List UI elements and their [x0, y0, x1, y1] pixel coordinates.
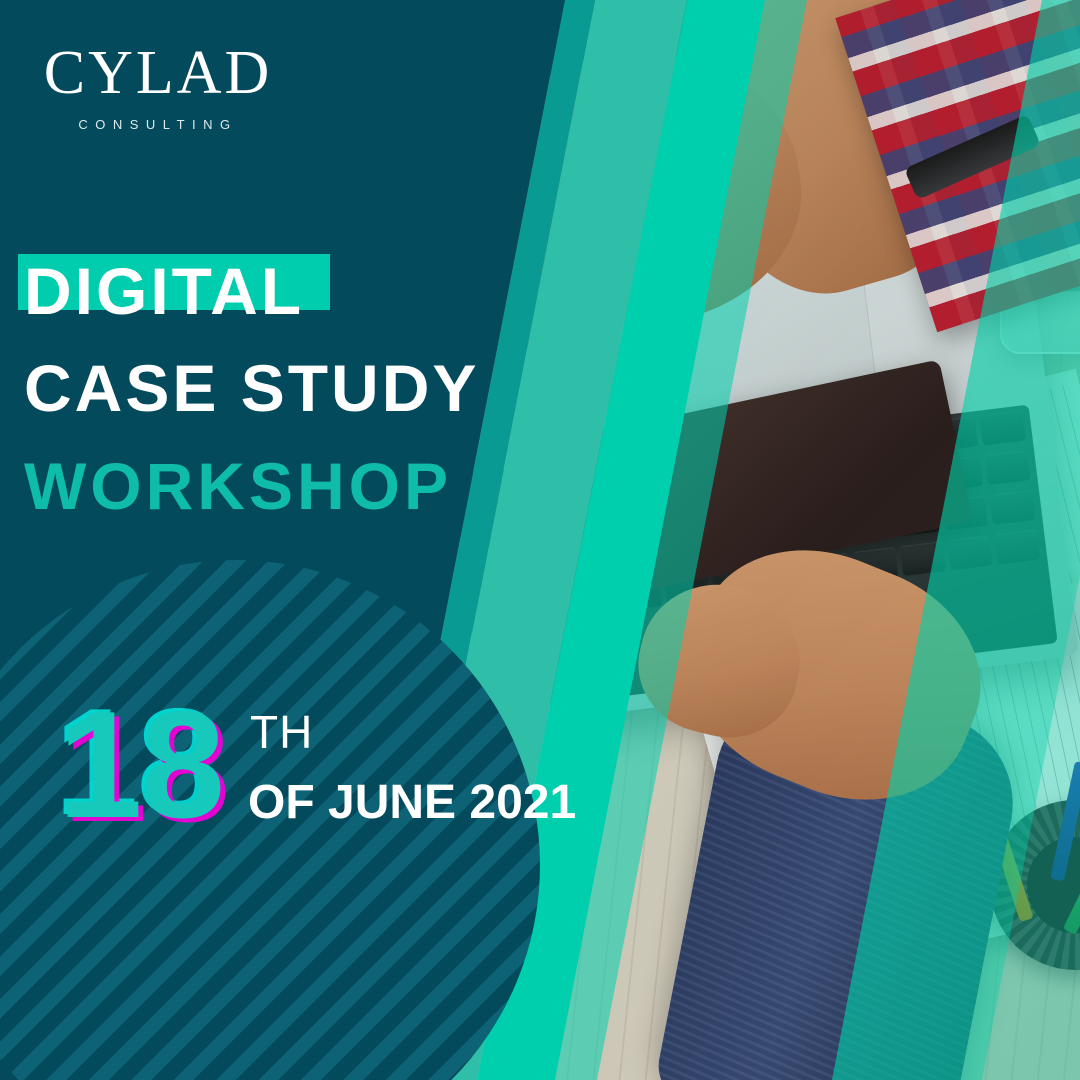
- headline-line-1-text: DIGITAL: [24, 254, 304, 328]
- logo-subtitle: CONSULTING: [28, 117, 288, 132]
- logo-wordmark: CYLAD: [28, 42, 288, 104]
- headline-line-3: WORKSHOP: [14, 448, 574, 524]
- date-day-number: 18: [58, 689, 223, 841]
- poster-canvas: CYLAD CONSULTING DIGITAL CASE STUDY WORK…: [0, 0, 1080, 1080]
- headline-line-1: DIGITAL: [14, 252, 314, 328]
- date-month-year: OF JUNE 2021: [248, 775, 576, 830]
- event-date-block: 18 TH OF JUNE 2021: [58, 697, 618, 847]
- headline-line-1-row: DIGITAL: [14, 252, 574, 328]
- brand-logo: CYLAD CONSULTING: [28, 42, 288, 132]
- headline-line-2: CASE STUDY: [14, 350, 574, 426]
- headline-block: DIGITAL CASE STUDY WORKSHOP: [14, 252, 574, 524]
- date-ordinal-suffix: TH: [250, 705, 313, 759]
